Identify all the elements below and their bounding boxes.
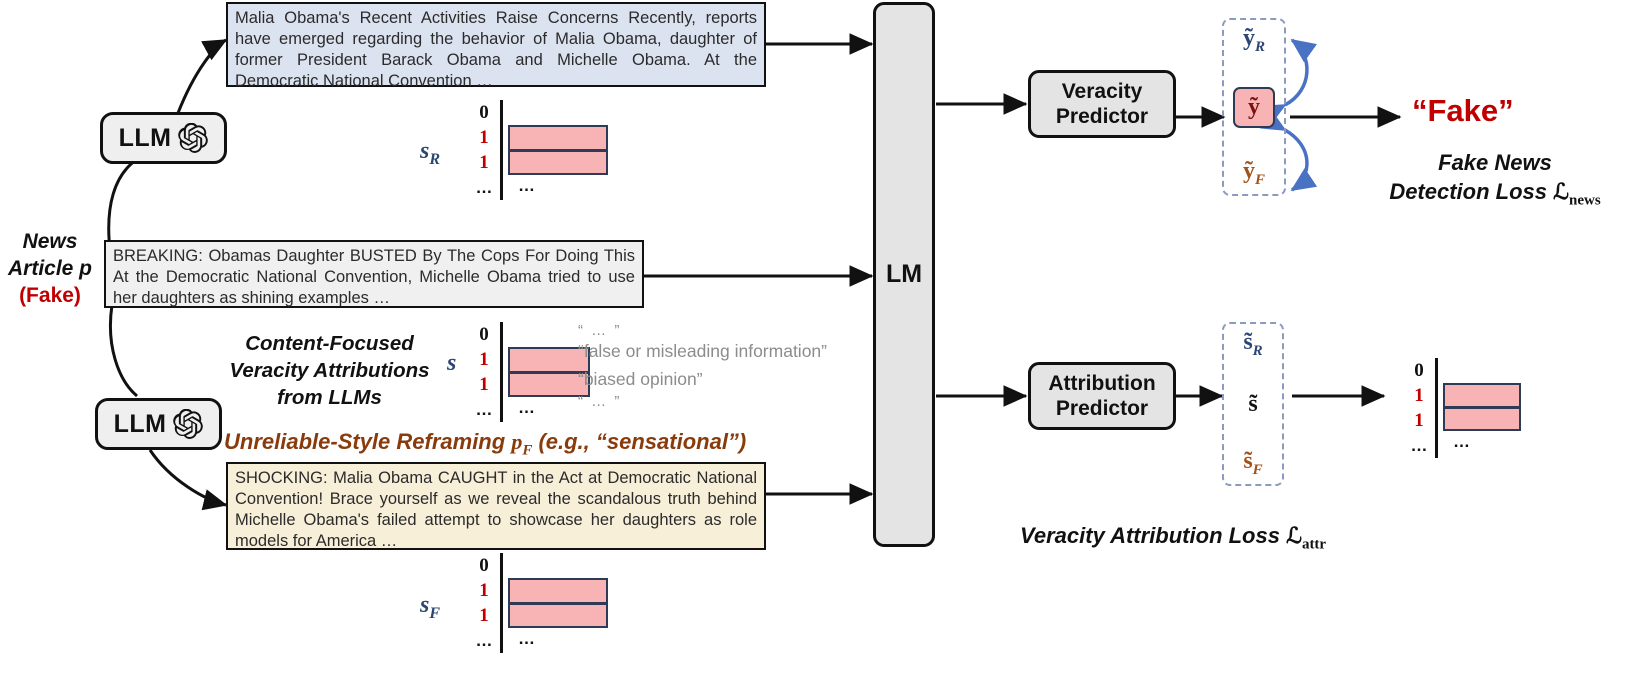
caption-us-pre: Unreliable-Style Reframing	[224, 429, 511, 454]
vector-bar-separator	[1445, 406, 1519, 409]
fake-news-detection-loss-label: Fake News Detection Loss ℒnews	[1350, 148, 1640, 215]
veracity-predictor-line1: Veracity	[1062, 79, 1143, 104]
caption-us-subscript: F	[522, 442, 532, 458]
attribution-predictor-line2: Predictor	[1056, 396, 1148, 421]
vector-bar-separator	[510, 371, 588, 374]
news-article-label: News Article p (Fake)	[0, 228, 100, 309]
attr-loss-subscript: attr	[1302, 536, 1326, 552]
article-box-fake-reframing: SHOCKING: Malia Obama CAUGHT in the Act …	[226, 462, 766, 550]
news-article-line1: News	[0, 228, 100, 255]
s-f-sub: F	[429, 605, 440, 622]
vector-label-s: s	[447, 350, 456, 377]
caption-cf-line1: Content-Focused	[222, 330, 437, 357]
y-r-item: ỹR	[1243, 25, 1265, 56]
attr-loss-text: Veracity Attribution Loss	[1020, 523, 1286, 548]
vector-label-s-r: sR	[420, 138, 440, 169]
vector-digits: 0 1 1 …	[470, 553, 498, 653]
caption-cf-line2: Veracity Attributions	[222, 357, 437, 384]
annotation-biased-opinion: “biased opinion”	[578, 369, 703, 390]
attr-loss-symbol: ℒ	[1286, 523, 1302, 548]
s-r-sub: R	[429, 151, 440, 168]
vector-label-s-f: sF	[420, 592, 440, 623]
vector-bars	[1443, 383, 1521, 431]
llm-top-label: LLM	[119, 124, 172, 153]
vector-digits: 0 1 1 …	[470, 322, 498, 422]
caption-unreliable-style: Unreliable-Style Reframing pF (e.g., “se…	[224, 429, 746, 459]
news-article-fake-tag: (Fake)	[0, 282, 100, 309]
veracity-predictor-box[interactable]: Veracity Predictor	[1028, 70, 1176, 138]
s-r-output-item: s̃R	[1243, 329, 1262, 360]
s-r-base: s	[420, 138, 429, 164]
caption-us-post: (e.g., “sensational”)	[532, 429, 746, 454]
vector-digits: 0 1 1 …	[1405, 358, 1433, 458]
s-predicted-item: s̃	[1248, 391, 1257, 418]
figure-canvas: News Article p (Fake) LLM LLM Malia Obam…	[0, 0, 1644, 693]
news-loss-line2: Detection Loss	[1389, 179, 1547, 204]
caption-us-symbol: p	[511, 429, 522, 454]
vector-trailing-dots: …	[518, 176, 535, 196]
vector-trailing-dots: …	[518, 629, 535, 649]
s-f-base: s	[420, 592, 429, 618]
caption-cf-line3: from LLMs	[222, 384, 437, 411]
vector-s-f: 0 1 1 … …	[470, 553, 590, 653]
veracity-attribution-loss-label: Veracity Attribution Loss ℒattr	[1020, 522, 1326, 558]
caption-content-focused: Content-Focused Veracity Attributions fr…	[222, 330, 437, 411]
vector-s-output: 0 1 1 … …	[1405, 358, 1525, 458]
vector-axis	[500, 100, 503, 200]
y-predicted-item[interactable]: ỹ	[1233, 87, 1275, 128]
lm-box[interactable]: LM	[873, 2, 935, 547]
annotation-dots-bottom: “ … ”	[578, 393, 621, 410]
attribution-predictor-line1: Attribution	[1048, 371, 1155, 396]
article-box-real-reframing: Malia Obama's Recent Activities Raise Co…	[226, 2, 766, 87]
vector-trailing-dots: …	[518, 398, 535, 418]
openai-logo-icon	[173, 409, 203, 439]
vector-axis	[500, 322, 503, 422]
lm-label: LM	[886, 260, 922, 289]
vector-trailing-dots: …	[1453, 432, 1470, 452]
attribution-predictor-box[interactable]: Attribution Predictor	[1028, 362, 1176, 430]
y-output-stack: ỹR ỹ ỹF	[1222, 18, 1286, 196]
news-article-line2: Article p	[0, 255, 100, 282]
s-output-stack: s̃R s̃ s̃F	[1222, 322, 1284, 486]
vector-bar-separator	[510, 149, 606, 152]
news-loss-line1: Fake News	[1350, 148, 1640, 177]
annotation-false-misleading: “false or misleading information”	[578, 341, 827, 362]
vector-bars	[508, 125, 608, 175]
prediction-fake-label: “Fake”	[1412, 93, 1514, 129]
llm-box-top[interactable]: LLM	[100, 112, 227, 164]
vector-s-r: 0 1 1 … …	[470, 100, 590, 200]
openai-logo-icon	[178, 123, 208, 153]
annotation-dots-top: “ … ”	[578, 322, 621, 339]
s-f-output-item: s̃F	[1243, 448, 1262, 479]
article-box-original: BREAKING: Obamas Daughter BUSTED By The …	[104, 240, 644, 308]
vector-bars	[508, 578, 608, 628]
news-loss-symbol: ℒ	[1553, 179, 1569, 204]
vector-bar-separator	[510, 602, 606, 605]
vector-axis	[500, 553, 503, 653]
y-f-item: ỹF	[1243, 158, 1265, 189]
news-loss-subscript: news	[1569, 192, 1601, 208]
llm-bottom-label: LLM	[114, 410, 167, 439]
s-base: s	[447, 350, 456, 376]
veracity-predictor-line2: Predictor	[1056, 104, 1148, 129]
llm-box-bottom[interactable]: LLM	[95, 398, 222, 450]
vector-s: 0 1 1 … …	[470, 322, 590, 422]
vector-axis	[1435, 358, 1438, 458]
vector-digits: 0 1 1 …	[470, 100, 498, 200]
